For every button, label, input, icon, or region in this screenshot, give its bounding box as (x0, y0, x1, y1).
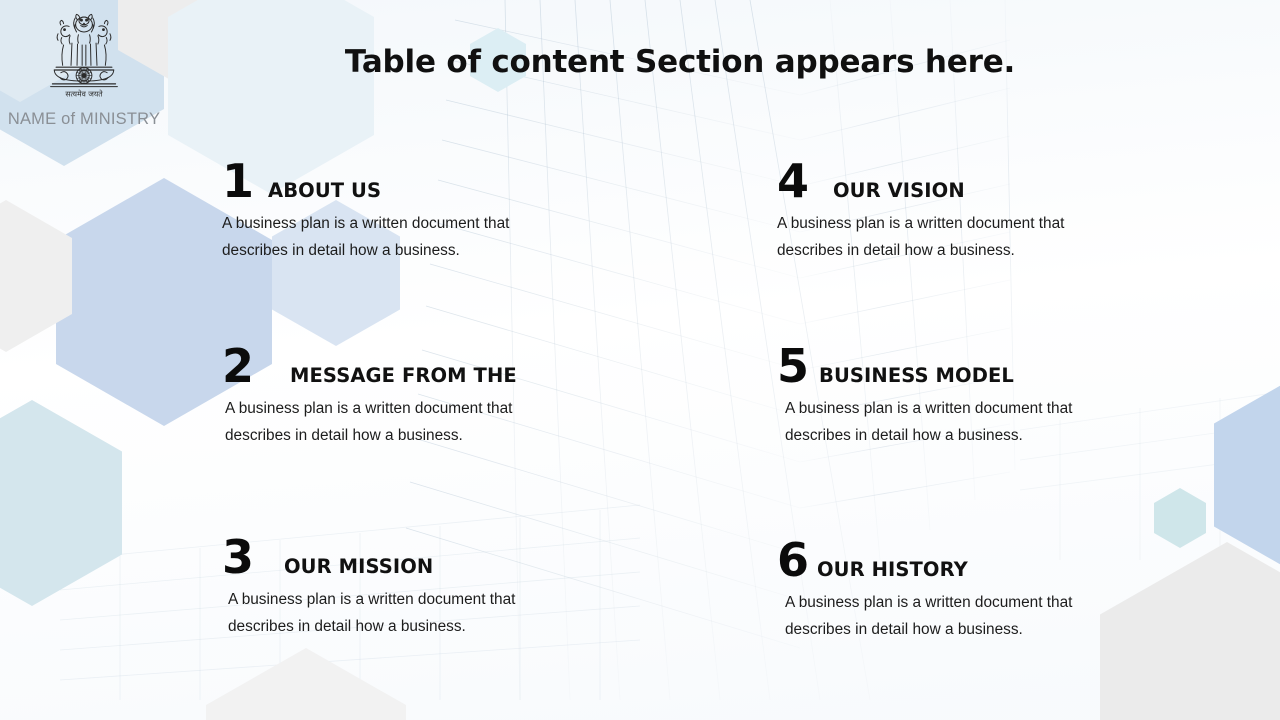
toc-item-4-body: A business plan is a written document th… (777, 210, 1247, 264)
table-of-contents-list: 1 ABOUT US A business plan is a written … (0, 0, 1280, 720)
toc-item-2-number: 2 (222, 343, 256, 389)
toc-item-5-head: 5 BUSINESS MODEL (777, 343, 1247, 389)
toc-item-5-body: A business plan is a written document th… (785, 395, 1247, 449)
toc-item-5-number: 5 (777, 343, 811, 389)
toc-item-5[interactable]: 5 BUSINESS MODEL A business plan is a wr… (777, 343, 1247, 449)
ministry-name-label: NAME of MINISTRY (8, 110, 160, 129)
toc-item-1-body: A business plan is a written document th… (222, 210, 692, 264)
ministry-logo-block: सत्यमेव जयते NAME of MINISTRY (0, 0, 168, 152)
toc-item-6-head: 6 OUR HISTORY (777, 537, 1247, 583)
toc-item-1-head: 1 ABOUT US (222, 158, 692, 204)
toc-item-3-body: A business plan is a written document th… (228, 586, 692, 640)
toc-item-2-head: 2 MESSAGE FROM THE (222, 343, 692, 389)
toc-item-3-number: 3 (222, 534, 256, 580)
toc-item-2[interactable]: 2 MESSAGE FROM THE A business plan is a … (222, 343, 692, 449)
toc-item-6[interactable]: 6 OUR HISTORY A business plan is a writt… (777, 537, 1247, 643)
toc-item-2-body: A business plan is a written document th… (225, 395, 692, 449)
toc-item-4-title: OUR VISION (833, 179, 965, 202)
toc-item-3[interactable]: 3 OUR MISSION A business plan is a writt… (222, 534, 692, 640)
toc-item-3-title: OUR MISSION (284, 555, 433, 578)
toc-item-6-number: 6 (777, 537, 811, 583)
toc-item-5-title: BUSINESS MODEL (819, 364, 1014, 387)
toc-item-1-title: ABOUT US (268, 179, 381, 202)
emblem-motto-text: सत्यमेव जयते (65, 89, 103, 98)
slide-canvas: सत्यमेव जयते NAME of MINISTRY Table of c… (0, 0, 1280, 720)
india-state-emblem-icon: सत्यमेव जयते (38, 6, 130, 108)
toc-item-2-title: MESSAGE FROM THE (290, 364, 517, 387)
toc-item-6-body: A business plan is a written document th… (785, 589, 1247, 643)
toc-item-4-head: 4 OUR VISION (777, 158, 1247, 204)
toc-item-4-number: 4 (777, 158, 811, 204)
toc-item-4[interactable]: 4 OUR VISION A business plan is a writte… (777, 158, 1247, 264)
toc-item-1-number: 1 (222, 158, 256, 204)
toc-item-1[interactable]: 1 ABOUT US A business plan is a written … (222, 158, 692, 264)
toc-item-3-head: 3 OUR MISSION (222, 534, 692, 580)
toc-item-6-title: OUR HISTORY (817, 558, 968, 581)
